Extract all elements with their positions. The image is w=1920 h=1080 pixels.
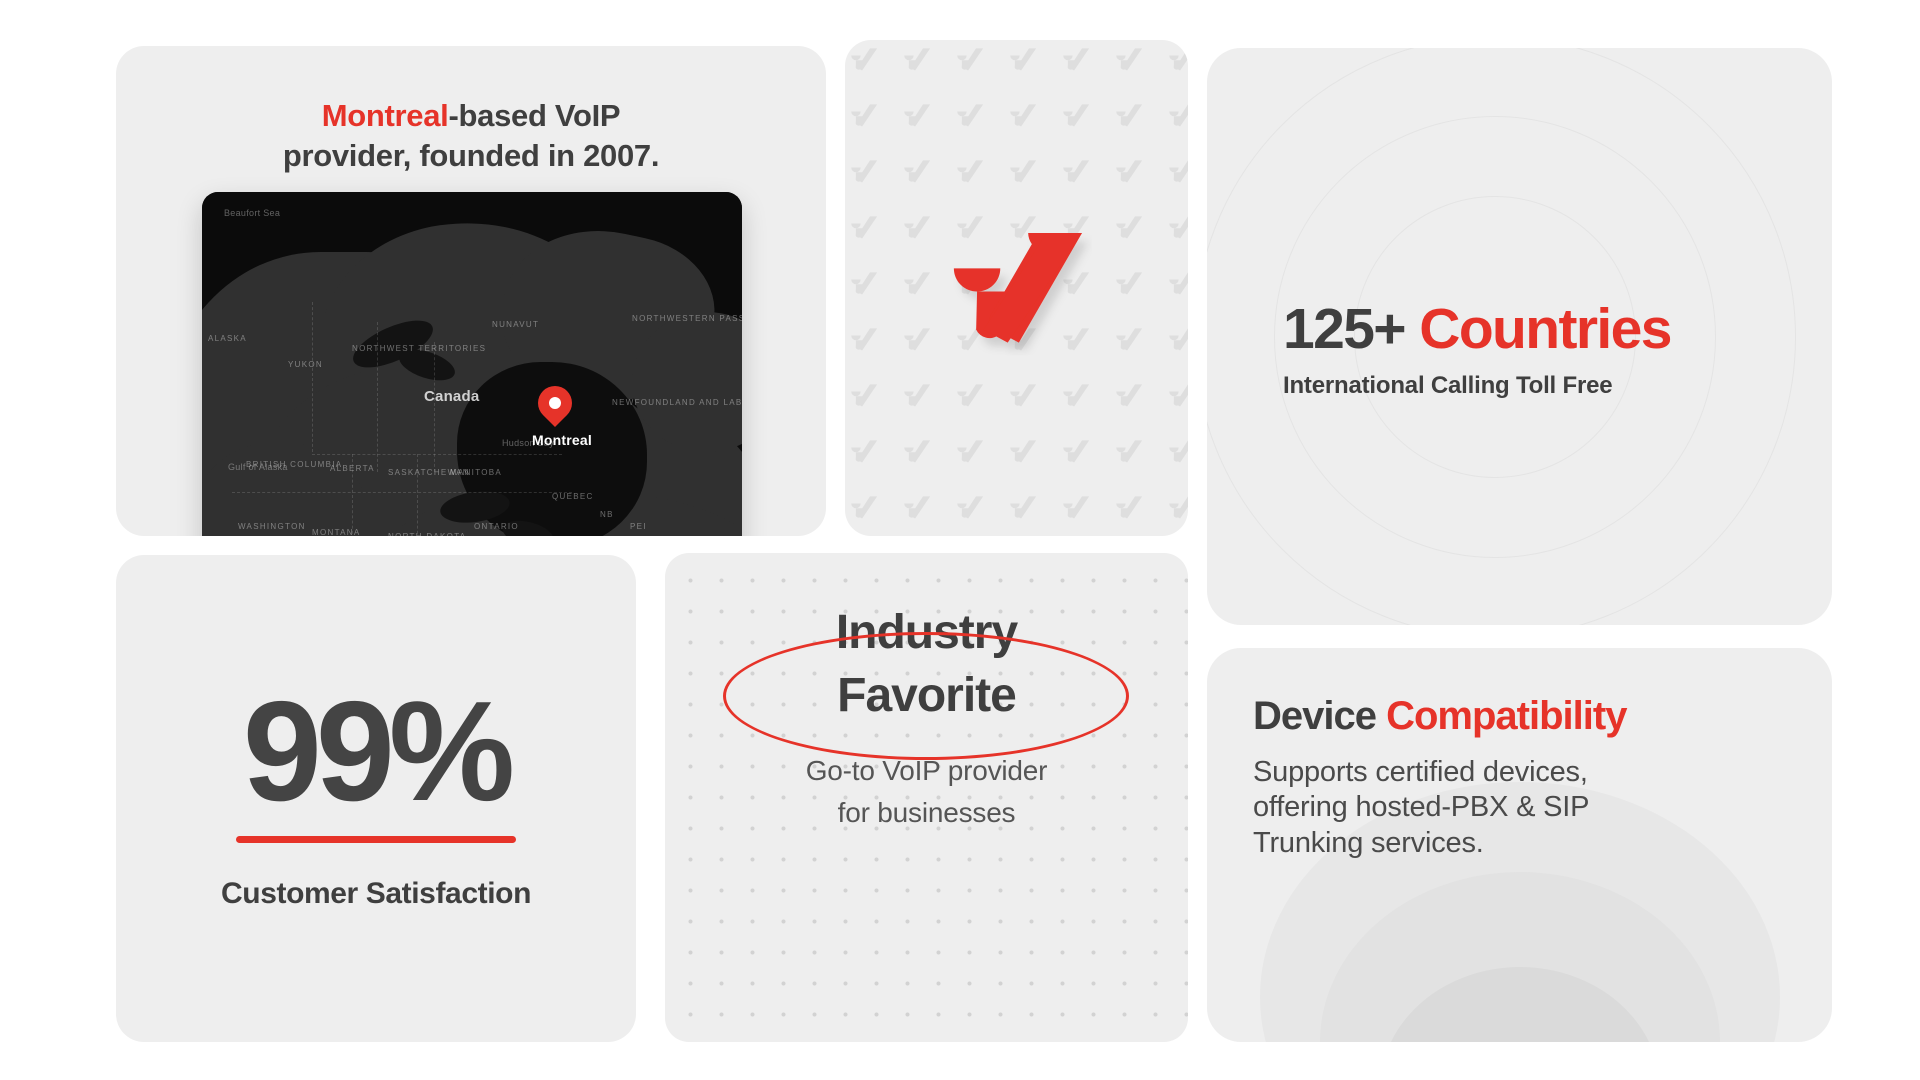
checkmark-pattern-tile-icon — [1008, 102, 1038, 130]
countries-text-block: 125+ Countries International Calling Tol… — [1283, 300, 1792, 400]
checkmark-pattern-tile-icon — [1167, 214, 1188, 242]
checkmark-pattern-tile-icon — [902, 382, 932, 410]
device-body-line3: Trunking services. — [1253, 826, 1792, 861]
card-industry-favorite: Industry Favorite Go-to VoIP provider fo… — [665, 553, 1188, 1042]
checkmark-pattern-tile-icon — [1061, 438, 1091, 466]
device-body-text: Supports certified devices, offering hos… — [1253, 755, 1792, 861]
checkmark-pattern-tile-icon — [1114, 382, 1144, 410]
checkmark-pattern-tile-icon — [1114, 214, 1144, 242]
card-device-compatibility: Device Compatibility Supports certified … — [1207, 648, 1832, 1042]
checkmark-pattern-tile-icon — [849, 158, 879, 186]
checkmark-pattern-tile-icon — [1167, 158, 1188, 186]
checkmark-pattern-tile-icon — [902, 158, 932, 186]
countries-title: 125+ Countries — [1283, 300, 1792, 360]
device-title: Device Compatibility — [1253, 694, 1792, 739]
checkmark-pattern-tile-icon — [1061, 382, 1091, 410]
red-divider-rule — [236, 836, 516, 843]
checkmark-pattern-tile-icon — [1008, 494, 1038, 522]
checkmark-pattern-tile-icon — [1114, 46, 1144, 74]
map-province-border — [312, 454, 562, 455]
canada-map-image: Beaufort SeaGulf of AlaskaHudson BayALAS… — [202, 192, 742, 536]
checkmark-pattern-tile-icon — [1167, 102, 1188, 130]
checkmark-pattern-tile-icon — [1114, 270, 1144, 298]
checkmark-pattern-tile-icon — [1167, 382, 1188, 410]
countries-stat-number: 125+ — [1283, 297, 1405, 361]
checkmark-pattern-tile-icon — [849, 214, 879, 242]
checkmark-pattern-tile-icon — [902, 438, 932, 466]
favorite-title-line2-wrap: Favorite — [833, 664, 1020, 727]
favorite-subtitle-line2: for businesses — [665, 792, 1188, 835]
checkmark-pattern-tile-icon — [1008, 382, 1038, 410]
checkmark-pattern-tile-icon — [1114, 438, 1144, 466]
checkmark-pattern-tile-icon — [849, 438, 879, 466]
checkmark-pattern-tile-icon — [1167, 438, 1188, 466]
checkmark-pattern-tile-icon — [1167, 270, 1188, 298]
checkmark-pattern-tile-icon — [955, 46, 985, 74]
map-province-border — [417, 454, 418, 536]
checkmark-pattern-tile-icon — [1008, 438, 1038, 466]
checkmark-pattern-tile-icon — [849, 326, 879, 354]
checkmark-pattern-tile-icon — [902, 270, 932, 298]
checkmark-pattern-tile-icon — [1167, 494, 1188, 522]
countries-stat-accent: Countries — [1419, 297, 1671, 361]
checkmark-pattern-tile-icon — [955, 158, 985, 186]
satisfaction-block: 99% Customer Satisfaction — [116, 687, 636, 911]
checkmark-pattern-tile-icon — [1061, 46, 1091, 74]
device-body-line2: offering hosted-PBX & SIP — [1253, 790, 1792, 825]
map-province-border — [434, 342, 435, 472]
favorite-subtitle-line1: Go-to VoIP provider — [665, 750, 1188, 793]
checkmark-pattern-tile-icon — [1167, 326, 1188, 354]
checkmark-pattern-tile-icon — [849, 494, 879, 522]
favorite-text-block: Industry Favorite Go-to VoIP provider fo… — [665, 601, 1188, 835]
checkmark-pattern-tile-icon — [902, 46, 932, 74]
checkmark-pattern-tile-icon — [1061, 158, 1091, 186]
favorite-title: Industry Favorite — [665, 601, 1188, 728]
device-title-main: Device — [1253, 694, 1376, 738]
checkmark-pattern-tile-icon — [902, 326, 932, 354]
infographic-canvas: Montreal-based VoIP provider, founded in… — [0, 0, 1920, 1080]
satisfaction-caption: Customer Satisfaction — [116, 877, 636, 911]
checkmark-pattern-tile-icon — [902, 102, 932, 130]
device-text-block: Device Compatibility Supports certified … — [1253, 694, 1792, 861]
map-pin-dot — [549, 397, 561, 409]
checkmark-pattern-tile-icon — [1061, 102, 1091, 130]
checkmark-pattern-tile-icon — [955, 382, 985, 410]
checkmark-pattern-tile-icon — [1008, 158, 1038, 186]
card-countries-stat: 125+ Countries International Calling Tol… — [1207, 48, 1832, 625]
montreal-heading-line2: provider, founded in 2007. — [283, 138, 659, 173]
device-body-line1: Supports certified devices, — [1253, 755, 1792, 790]
favorite-title-line2: Favorite — [837, 669, 1016, 722]
checkmark-pattern-tile-icon — [902, 214, 932, 242]
montreal-heading-rest: -based VoIP — [448, 98, 620, 133]
device-title-accent: Compatibility — [1386, 694, 1626, 738]
checkmark-pattern-tile-icon — [955, 438, 985, 466]
red-checkmark-logo-icon — [942, 226, 1092, 356]
satisfaction-percentage: 99% — [116, 687, 636, 818]
favorite-subtitle: Go-to VoIP provider for businesses — [665, 750, 1188, 835]
checkmark-pattern-tile-icon — [1061, 494, 1091, 522]
checkmark-pattern-tile-icon — [1114, 494, 1144, 522]
checkmark-pattern-tile-icon — [849, 382, 879, 410]
montreal-heading-accent: Montreal — [322, 98, 449, 133]
checkmark-pattern-tile-icon — [1114, 158, 1144, 186]
checkmark-pattern-tile-icon — [1114, 102, 1144, 130]
map-pin-label: Montreal — [502, 432, 622, 448]
map-province-border — [377, 322, 378, 472]
checkmark-pattern-tile-icon — [1167, 46, 1188, 74]
checkmark-pattern-tile-icon — [1114, 326, 1144, 354]
checkmark-pattern-tile-icon — [902, 494, 932, 522]
checkmark-pattern-tile-icon — [849, 102, 879, 130]
card-montreal-based-provider: Montreal-based VoIP provider, founded in… — [116, 46, 826, 536]
countries-subtitle: International Calling Toll Free — [1283, 372, 1792, 400]
card-brand-logo — [845, 40, 1188, 536]
map-province-border — [232, 492, 572, 493]
favorite-title-line1: Industry — [665, 601, 1188, 664]
checkmark-pattern-tile-icon — [1008, 46, 1038, 74]
checkmark-pattern-tile-icon — [955, 494, 985, 522]
montreal-heading: Montreal-based VoIP provider, founded in… — [116, 96, 826, 175]
card-customer-satisfaction: 99% Customer Satisfaction — [116, 555, 636, 1042]
checkmark-pattern-tile-icon — [849, 270, 879, 298]
map-province-border — [312, 302, 313, 452]
map-pin-icon — [538, 386, 572, 430]
checkmark-pattern-tile-icon — [955, 102, 985, 130]
map-province-border — [352, 454, 353, 536]
checkmark-pattern-tile-icon — [849, 46, 879, 74]
